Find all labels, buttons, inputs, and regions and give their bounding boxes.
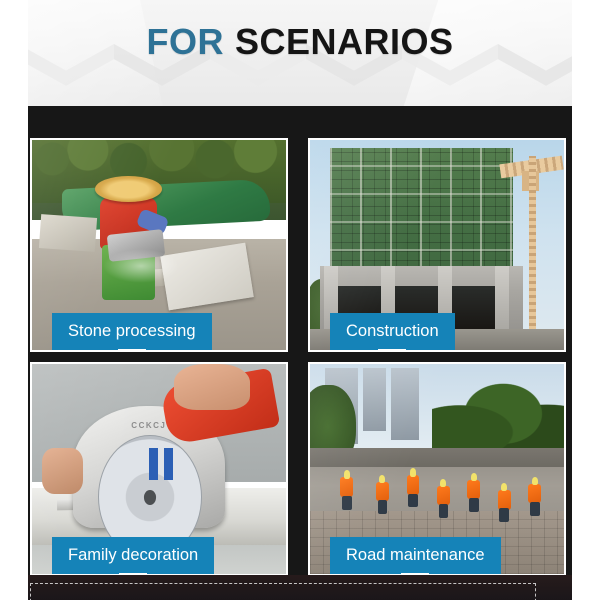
scenario-label-badge: Road maintenance [330,537,501,576]
scenario-card[interactable]: Road maintenance [308,362,566,576]
scenario-label-text: Family decoration [68,546,198,565]
scenario-label-text: Stone processing [68,322,196,341]
scenario-label-text: Construction [346,322,439,341]
page-title: FORSCENARIOS [28,0,572,106]
next-section-dashed-outline [30,583,536,600]
next-section-peek [28,575,572,600]
scenarios-grid: Stone processing [30,138,570,578]
scenarios-page: FORSCENARIOS [0,0,600,600]
scenario-card[interactable]: Construction [308,138,566,352]
scenario-label-text: Road maintenance [346,546,485,565]
page-title-highlight: FOR [146,24,224,60]
scenario-label-badge: Family decoration [52,537,214,576]
page-header: FORSCENARIOS [28,0,572,106]
scenario-card[interactable]: CCKCJ Family decoration [30,362,288,576]
badge-underline [118,349,146,352]
badge-underline [378,349,406,352]
page-title-rest: SCENARIOS [235,24,454,60]
scenario-label-badge: Stone processing [52,313,212,352]
scenario-card[interactable]: Stone processing [30,138,288,352]
scenario-label-badge: Construction [330,313,455,352]
scenarios-dark-panel: Stone processing [28,106,572,600]
